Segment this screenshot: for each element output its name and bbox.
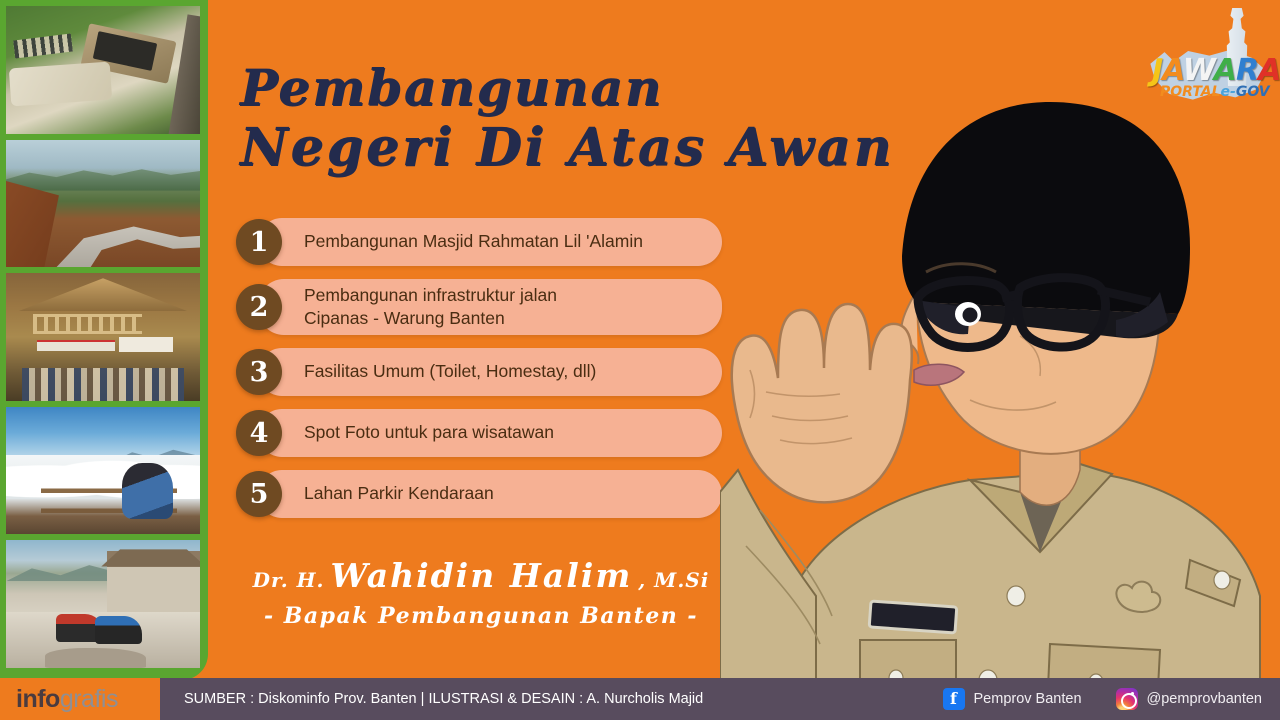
instagram-icon: [1116, 688, 1138, 710]
photo-sea-of-clouds-viewpoint: [6, 407, 200, 535]
photo-motorbike-parking: [6, 540, 200, 668]
infografis-logo: infografis: [0, 678, 160, 720]
name-badge: [869, 601, 957, 633]
signature-block: Dr. H.Wahidin Halim, M.Si - Bapak Pemban…: [246, 556, 716, 629]
list-item: 4 Spot Foto untuk para wisatawan: [236, 409, 722, 457]
photo-mountain-road: [6, 140, 200, 268]
list-item-number: 3: [236, 349, 282, 395]
photo-village-market: [6, 273, 200, 401]
epaulette-button: [1214, 571, 1230, 589]
list-item-label: Fasilitas Umum (Toilet, Homestay, dll): [304, 360, 610, 383]
program-list: 1 Pembangunan Masjid Rahmatan Lil 'Alami…: [236, 218, 722, 531]
signature-name: Wahidin Halim: [331, 556, 633, 595]
shirt-button: [1007, 586, 1025, 606]
photo-strip-panel: [0, 0, 208, 680]
list-item: 2 Pembangunan infrastruktur jalan Cipana…: [236, 279, 722, 335]
list-item-label: Pembangunan infrastruktur jalan Cipanas …: [304, 284, 571, 330]
social-links: f Pemprov Banten @pemprovbanten: [943, 688, 1263, 710]
list-item: 1 Pembangunan Masjid Rahmatan Lil 'Alami…: [236, 218, 722, 266]
pupil: [963, 308, 978, 323]
signature-tagline: - Bapak Pembangunan Banten -: [246, 603, 716, 629]
signature-suffix: , M.Si: [638, 568, 709, 592]
infographic-poster: Pembangunan Negeri Di Atas Awan 1 Pemban…: [0, 0, 1280, 720]
list-item-label: Spot Foto untuk para wisatawan: [304, 421, 568, 444]
list-item-label: Pembangunan Masjid Rahmatan Lil 'Alamin: [304, 230, 657, 253]
photo-mosque-aerial: [6, 6, 200, 134]
raised-hand: [732, 304, 912, 502]
footer-credits-bar: SUMBER : Diskominfo Prov. Banten | ILUST…: [160, 678, 1280, 720]
list-item-number: 4: [236, 410, 282, 456]
facebook-icon: f: [943, 688, 965, 710]
footer-credits: SUMBER : Diskominfo Prov. Banten | ILUST…: [184, 691, 703, 707]
list-item-label: Lahan Parkir Kendaraan: [304, 482, 508, 505]
logo-info-text: info: [16, 685, 60, 714]
uniform-sleeve: [720, 470, 816, 688]
list-item: 5 Lahan Parkir Kendaraan: [236, 470, 722, 518]
facebook-label: Pemprov Banten: [974, 691, 1082, 707]
signature-prefix: Dr. H.: [253, 568, 325, 592]
signature-name-line: Dr. H.Wahidin Halim, M.Si: [246, 556, 716, 595]
list-item-number: 5: [236, 471, 282, 517]
instagram-label: @pemprovbanten: [1147, 691, 1262, 707]
instagram-link[interactable]: @pemprovbanten: [1116, 688, 1262, 710]
wahidin-halim-portrait: [720, 40, 1280, 688]
logo-grafis-text: grafis: [60, 685, 118, 714]
facebook-link[interactable]: f Pemprov Banten: [943, 688, 1082, 710]
list-item-number: 2: [236, 284, 282, 330]
list-item-number: 1: [236, 219, 282, 265]
list-item: 3 Fasilitas Umum (Toilet, Homestay, dll): [236, 348, 722, 396]
footer-bar: infografis SUMBER : Diskominfo Prov. Ban…: [0, 678, 1280, 720]
